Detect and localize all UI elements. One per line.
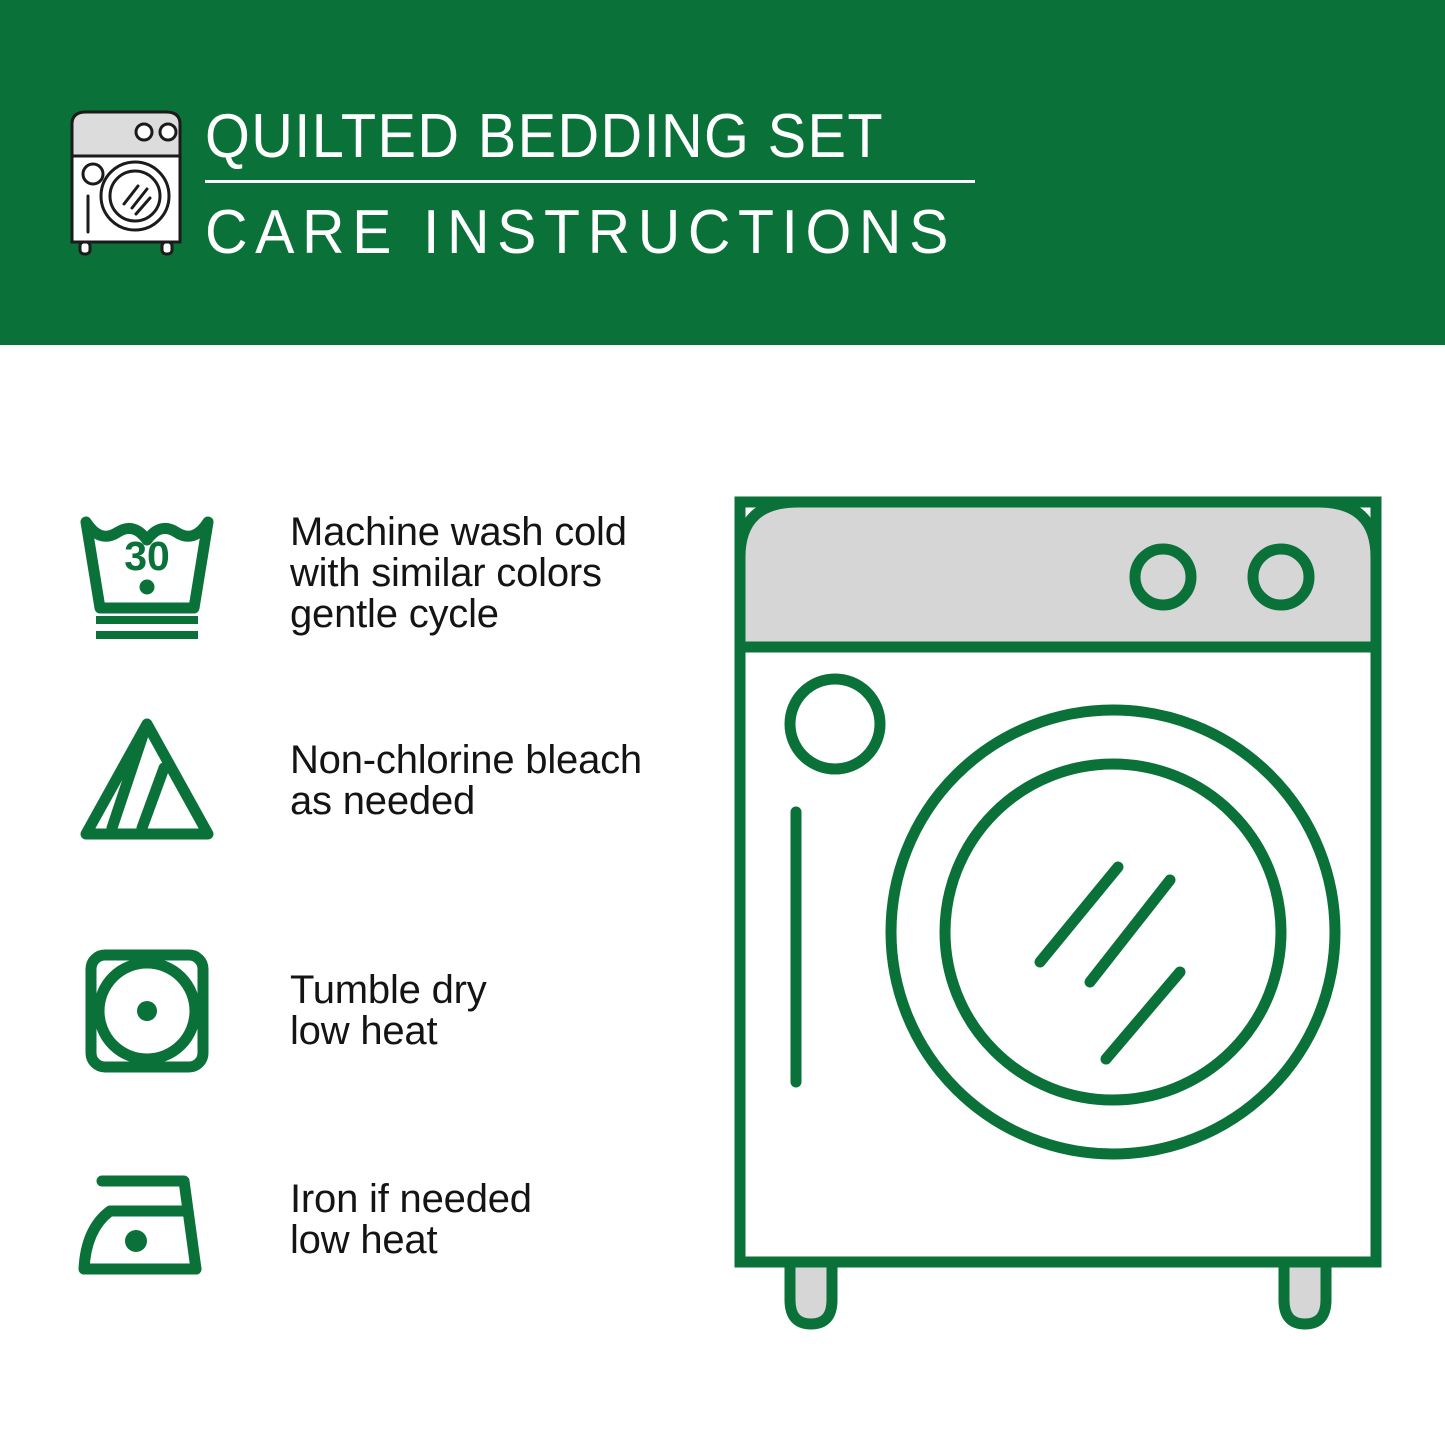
header-text-block: QUILTED BEDDING SET CARE INSTRUCTIONS (205, 100, 1005, 269)
title-divider (205, 180, 975, 183)
care-line: Non-chlorine bleach (290, 740, 642, 781)
page-title: QUILTED BEDDING SET (205, 100, 949, 174)
care-row-tumble-dry: Tumble dry low heat (62, 938, 682, 1083)
svg-text:30: 30 (124, 533, 170, 579)
care-row-iron: Iron if needed low heat (62, 1150, 682, 1290)
care-line: low heat (290, 1011, 487, 1052)
care-line: with similar colors (290, 553, 627, 594)
care-line: Machine wash cold (290, 512, 627, 553)
care-instructions-page: QUILTED BEDDING SET CARE INSTRUCTIONS 30… (0, 0, 1445, 1445)
care-line: Iron if needed (290, 1179, 532, 1220)
washing-machine-illustration (718, 462, 1418, 1362)
tumble-dry-low-heat-icon (62, 936, 232, 1086)
care-line: low heat (290, 1220, 532, 1261)
care-row-machine-wash: 30 Machine wash cold with similar colors… (62, 498, 682, 648)
care-line: gentle cycle (290, 594, 627, 635)
page-subtitle: CARE INSTRUCTIONS (205, 197, 965, 269)
care-row-bleach: Non-chlorine bleach as needed (62, 706, 682, 856)
care-text-machine-wash: Machine wash cold with similar colors ge… (232, 512, 627, 635)
care-text-tumble-dry: Tumble dry low heat (232, 970, 487, 1052)
washing-machine-logo-icon (62, 104, 190, 256)
care-line: as needed (290, 781, 642, 822)
non-chlorine-bleach-triangle-icon (62, 706, 232, 856)
care-text-bleach: Non-chlorine bleach as needed (232, 740, 642, 822)
iron-low-heat-icon (62, 1145, 232, 1295)
care-line: Tumble dry (290, 970, 487, 1011)
care-text-iron: Iron if needed low heat (232, 1179, 532, 1261)
machine-wash-30-gentle-icon: 30 (62, 498, 232, 648)
header-band: QUILTED BEDDING SET CARE INSTRUCTIONS (0, 0, 1445, 345)
